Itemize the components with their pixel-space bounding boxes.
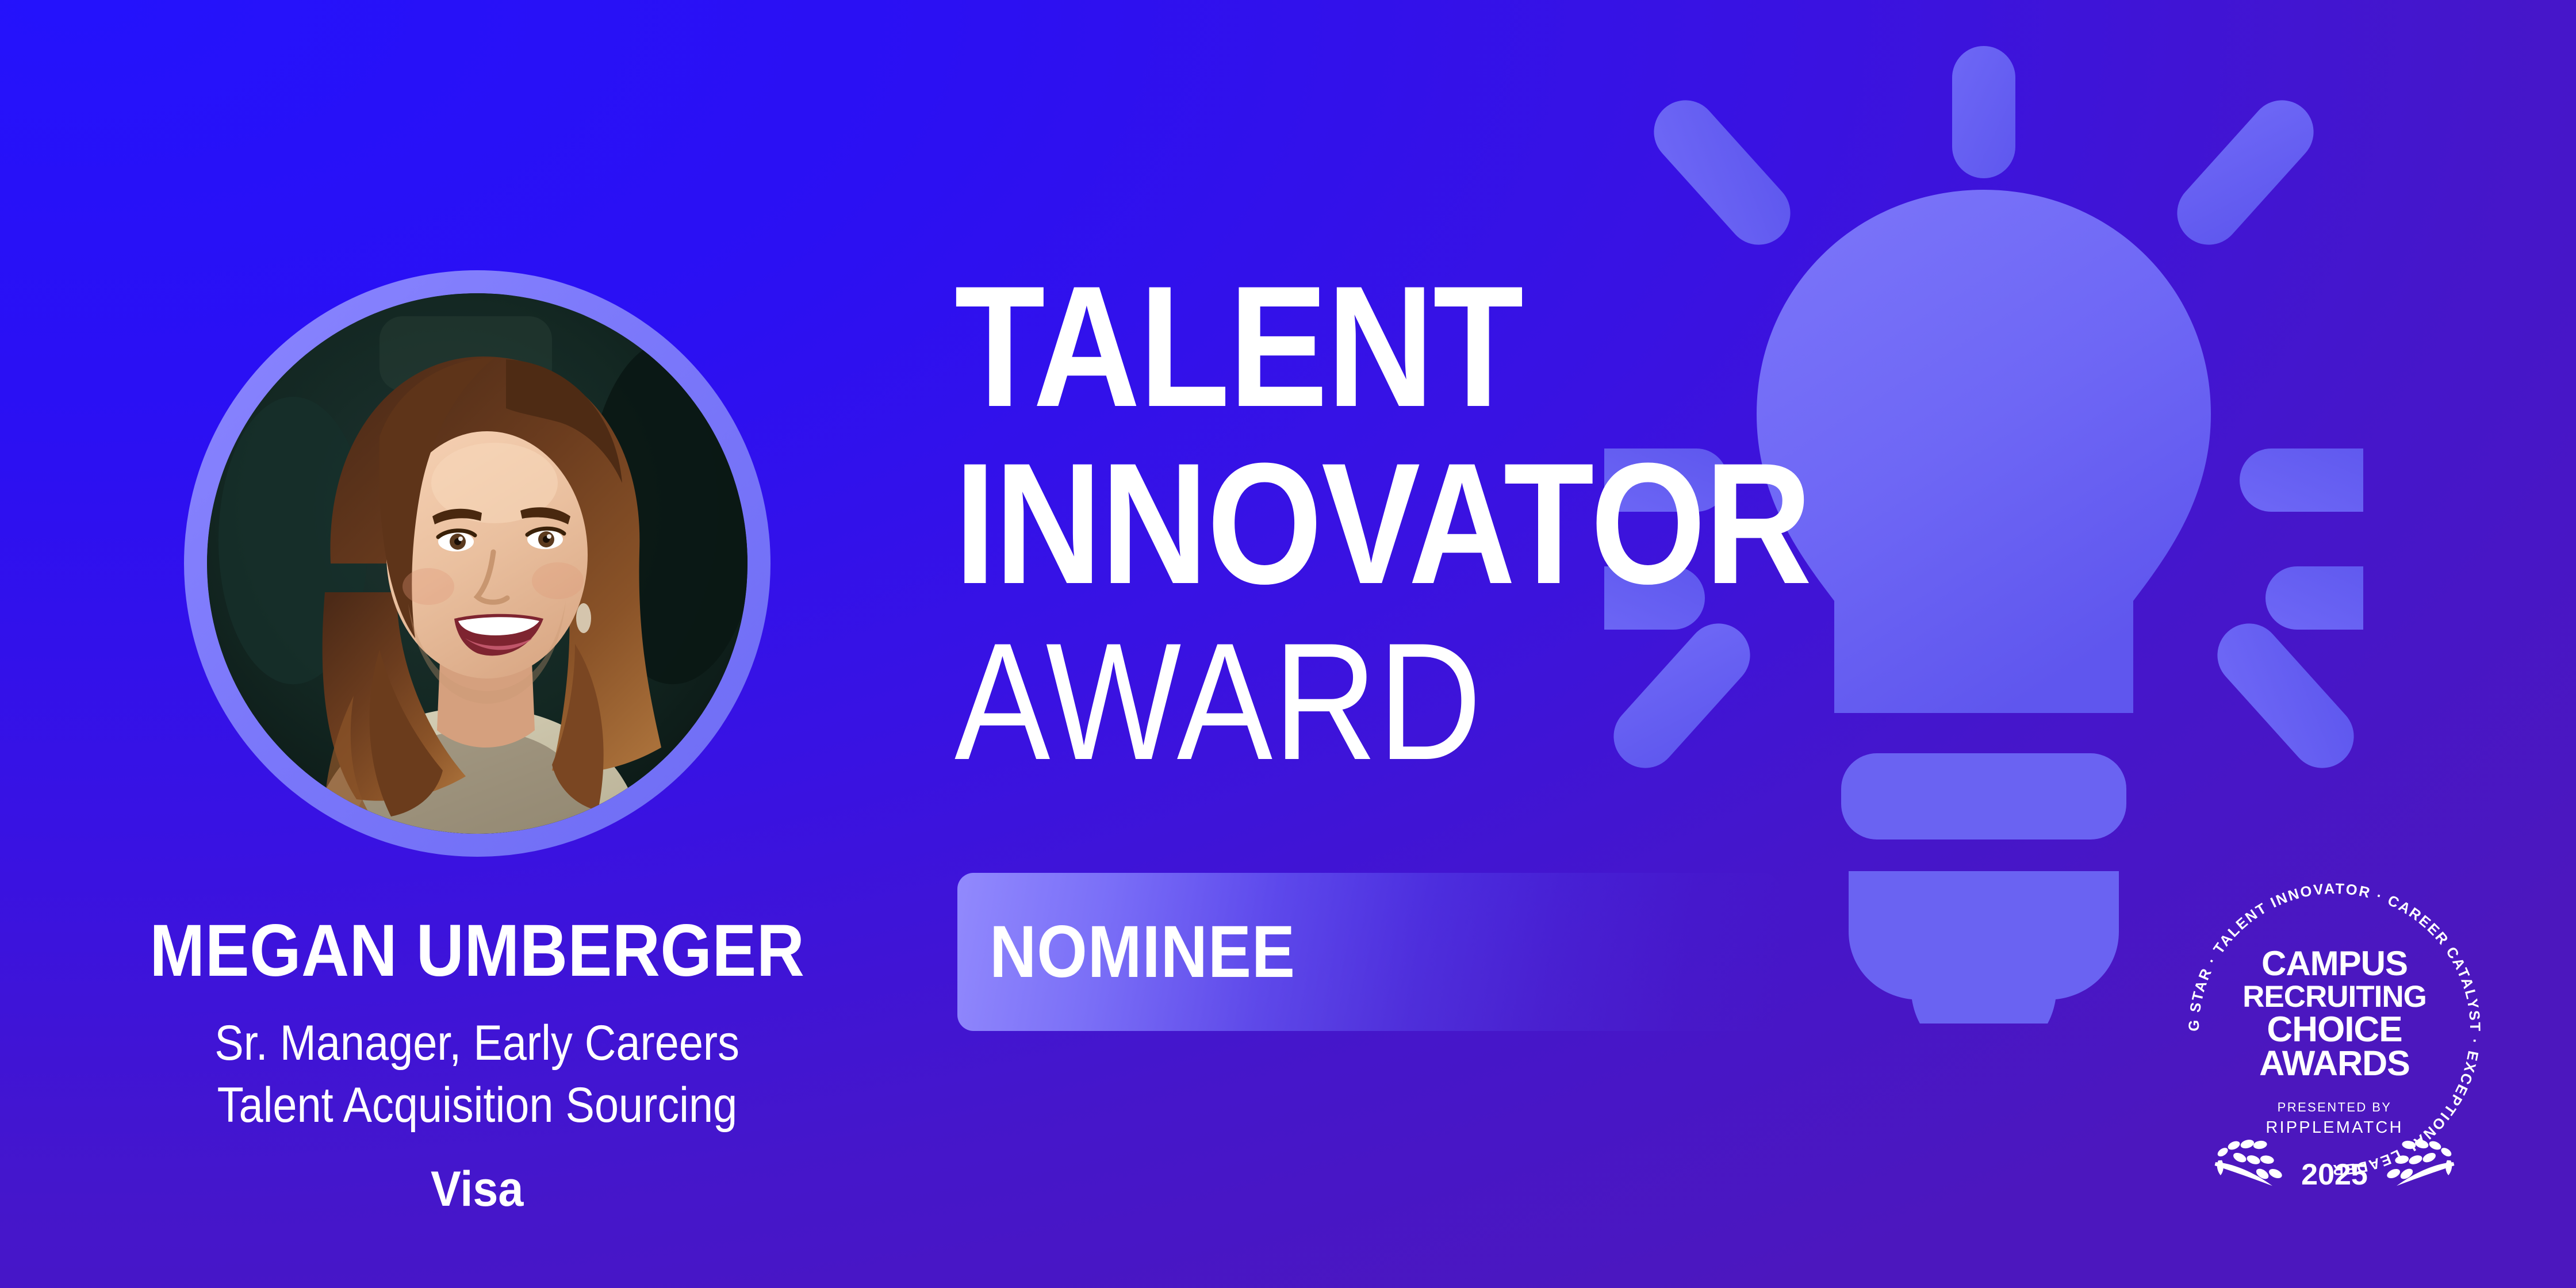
seal-year: 2025 <box>2301 1158 2368 1191</box>
avatar <box>207 293 747 834</box>
award-title-line-2: INNOVATOR <box>954 439 1811 608</box>
seal-line-2: RECRUITING <box>2242 980 2426 1014</box>
award-title-line-1: TALENT <box>954 262 1811 431</box>
award-seal: PATHFINDER · RISING STAR · TALENT INNOVA… <box>2172 867 2497 1191</box>
nominee-profile: MEGAN UMBERGER Sr. Manager, Early Career… <box>0 270 1035 1214</box>
award-title-block: TALENT INNOVATOR AWARD <box>954 262 1950 785</box>
nominee-role-line-1: Sr. Manager, Early Careers <box>215 1012 740 1074</box>
nominee-company: Visa <box>431 1164 523 1214</box>
portrait-photo <box>207 293 747 834</box>
award-nominee-card: TALENT INNOVATOR AWARD NOMINEE <box>0 0 2576 1288</box>
seal-line-4: AWARDS <box>2259 1044 2410 1083</box>
seal-line-1: CAMPUS <box>2261 944 2408 983</box>
nominee-role-line-2: Talent Acquisition Sourcing <box>217 1074 738 1136</box>
status-badge: NOMINEE <box>957 873 1780 1031</box>
seal-presenter: RIPPLEMATCH <box>2265 1118 2403 1137</box>
laurel-wreath-icon <box>2211 1129 2290 1190</box>
award-title-line-3: AWARD <box>954 618 1811 785</box>
nominee-name: MEGAN UMBERGER <box>149 914 804 988</box>
seal-presented-by-label: PRESENTED BY <box>2278 1100 2392 1114</box>
avatar-ring <box>184 270 770 857</box>
status-badge-label: NOMINEE <box>990 910 1295 994</box>
